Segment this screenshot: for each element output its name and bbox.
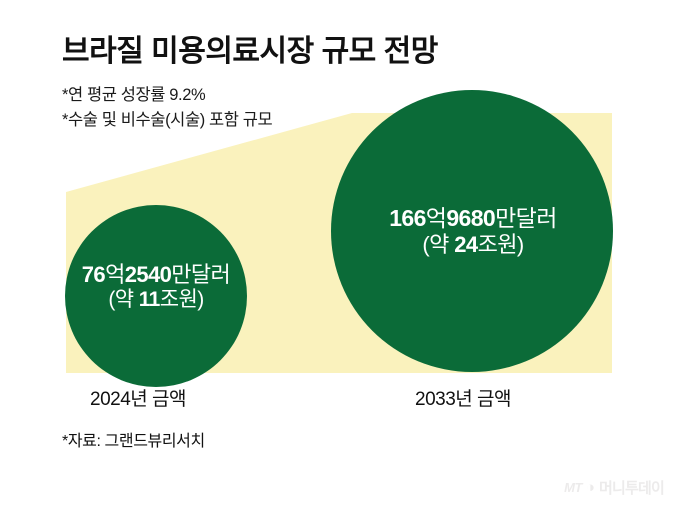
bubble-2024 xyxy=(65,205,247,387)
logo-brand-text: 머니투데이 xyxy=(599,477,664,498)
publisher-logo: MT ◑ 머니투데이 xyxy=(564,477,664,498)
logo-circle-icon: ◑ xyxy=(586,480,595,495)
infographic-root: 브라질 미용의료시장 규모 전망 *연 평균 성장률 9.2% *수술 및 비수… xyxy=(0,0,680,508)
caption-2033: 2033년 금액 xyxy=(415,384,511,411)
logo-mt-text: MT xyxy=(564,480,582,495)
source-note: *자료: 그랜드뷰리서치 xyxy=(62,427,205,451)
bubble-2033 xyxy=(331,90,613,372)
caption-2024: 2024년 금액 xyxy=(90,384,186,411)
